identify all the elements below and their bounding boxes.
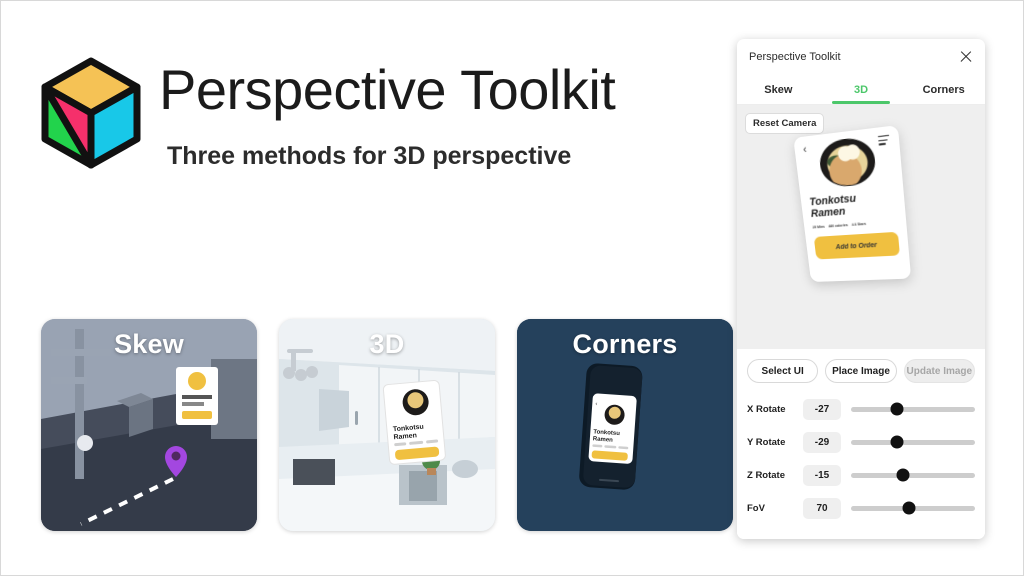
update-image-button: Update Image bbox=[904, 359, 975, 383]
slider-track-fov[interactable] bbox=[851, 506, 975, 511]
tab-bar: Skew 3D Corners bbox=[737, 75, 985, 105]
panel-title: Perspective Toolkit bbox=[749, 51, 959, 63]
page-title: Perspective Toolkit bbox=[159, 61, 615, 120]
slider-thumb-fov[interactable] bbox=[903, 502, 916, 515]
tab-skew[interactable]: Skew bbox=[737, 75, 820, 104]
slider-thumb-z-rotate[interactable] bbox=[897, 469, 910, 482]
meta-calories: 480 calories bbox=[828, 223, 848, 228]
thumbnail-row: Skew bbox=[41, 319, 733, 531]
chevron-left-icon[interactable]: ‹ bbox=[803, 145, 808, 156]
page-subtitle: Three methods for 3D perspective bbox=[167, 142, 615, 171]
thumbnail-label: Skew bbox=[41, 329, 257, 360]
thumbnail-corners[interactable]: ‹ Tonkotsu Ramen Corners bbox=[517, 319, 733, 531]
thumbnail-label: Corners bbox=[517, 329, 733, 360]
slider-value-y-rotate[interactable]: -29 bbox=[803, 432, 841, 453]
slider-track-z-rotate[interactable] bbox=[851, 473, 975, 478]
panel-header: Perspective Toolkit bbox=[737, 39, 985, 75]
meta-rating: 4.6 Stars bbox=[851, 222, 866, 227]
dish-meta-row: 25 Mins 480 calories 4.6 Stars bbox=[812, 220, 897, 230]
close-icon[interactable] bbox=[959, 50, 973, 64]
slider-y-rotate: Y Rotate -29 bbox=[747, 428, 975, 456]
dish-name: Tonkotsu Ramen bbox=[809, 189, 896, 220]
action-button-row: Select UI Place Image Update Image bbox=[747, 359, 975, 383]
thumbnail-label: 3D bbox=[279, 329, 495, 360]
controls-section: Select UI Place Image Update Image X Rot… bbox=[737, 349, 985, 539]
meta-time: 25 Mins bbox=[812, 225, 825, 230]
svg-text:‹: ‹ bbox=[595, 401, 597, 407]
slider-thumb-y-rotate[interactable] bbox=[890, 436, 903, 449]
slider-value-z-rotate[interactable]: -15 bbox=[803, 465, 841, 486]
place-image-button[interactable]: Place Image bbox=[825, 359, 896, 383]
slider-track-y-rotate[interactable] bbox=[851, 440, 975, 445]
select-ui-button[interactable]: Select UI bbox=[747, 359, 818, 383]
title-block: Perspective Toolkit Three methods for 3D… bbox=[159, 53, 615, 171]
hero-section: Perspective Toolkit Three methods for 3D… bbox=[39, 53, 615, 175]
app-logo bbox=[39, 53, 143, 175]
slider-z-rotate: Z Rotate -15 bbox=[747, 461, 975, 489]
tab-3d[interactable]: 3D bbox=[820, 75, 903, 104]
preview-canvas[interactable]: Reset Camera ‹ Tonkotsu Ramen 25 Mins 48… bbox=[737, 105, 985, 349]
slider-thumb-x-rotate[interactable] bbox=[890, 403, 903, 416]
slider-value-x-rotate[interactable]: -27 bbox=[803, 399, 841, 420]
thumbnail-skew[interactable]: Skew bbox=[41, 319, 257, 531]
slider-label: X Rotate bbox=[747, 404, 803, 415]
food-card-preview[interactable]: ‹ Tonkotsu Ramen 25 Mins 480 calories 4.… bbox=[793, 125, 911, 282]
perspective-stage: ‹ Tonkotsu Ramen 25 Mins 480 calories 4.… bbox=[737, 105, 985, 349]
slider-label: Y Rotate bbox=[747, 437, 803, 448]
tab-corners[interactable]: Corners bbox=[902, 75, 985, 104]
thumbnail-3d[interactable]: Tonkotsu Ramen 3D bbox=[279, 319, 495, 531]
slider-label: FoV bbox=[747, 503, 803, 514]
slider-track-x-rotate[interactable] bbox=[851, 407, 975, 412]
hamburger-menu-icon[interactable] bbox=[878, 135, 890, 148]
slider-label: Z Rotate bbox=[747, 470, 803, 481]
add-to-order-button[interactable]: Add to Order bbox=[814, 232, 900, 260]
plugin-panel: Perspective Toolkit Skew 3D Corners Rese… bbox=[737, 39, 985, 539]
isometric-cube-icon bbox=[39, 53, 143, 175]
slider-fov: FoV 70 bbox=[747, 494, 975, 522]
slider-value-fov[interactable]: 70 bbox=[803, 498, 841, 519]
slider-x-rotate: X Rotate -27 bbox=[747, 395, 975, 423]
